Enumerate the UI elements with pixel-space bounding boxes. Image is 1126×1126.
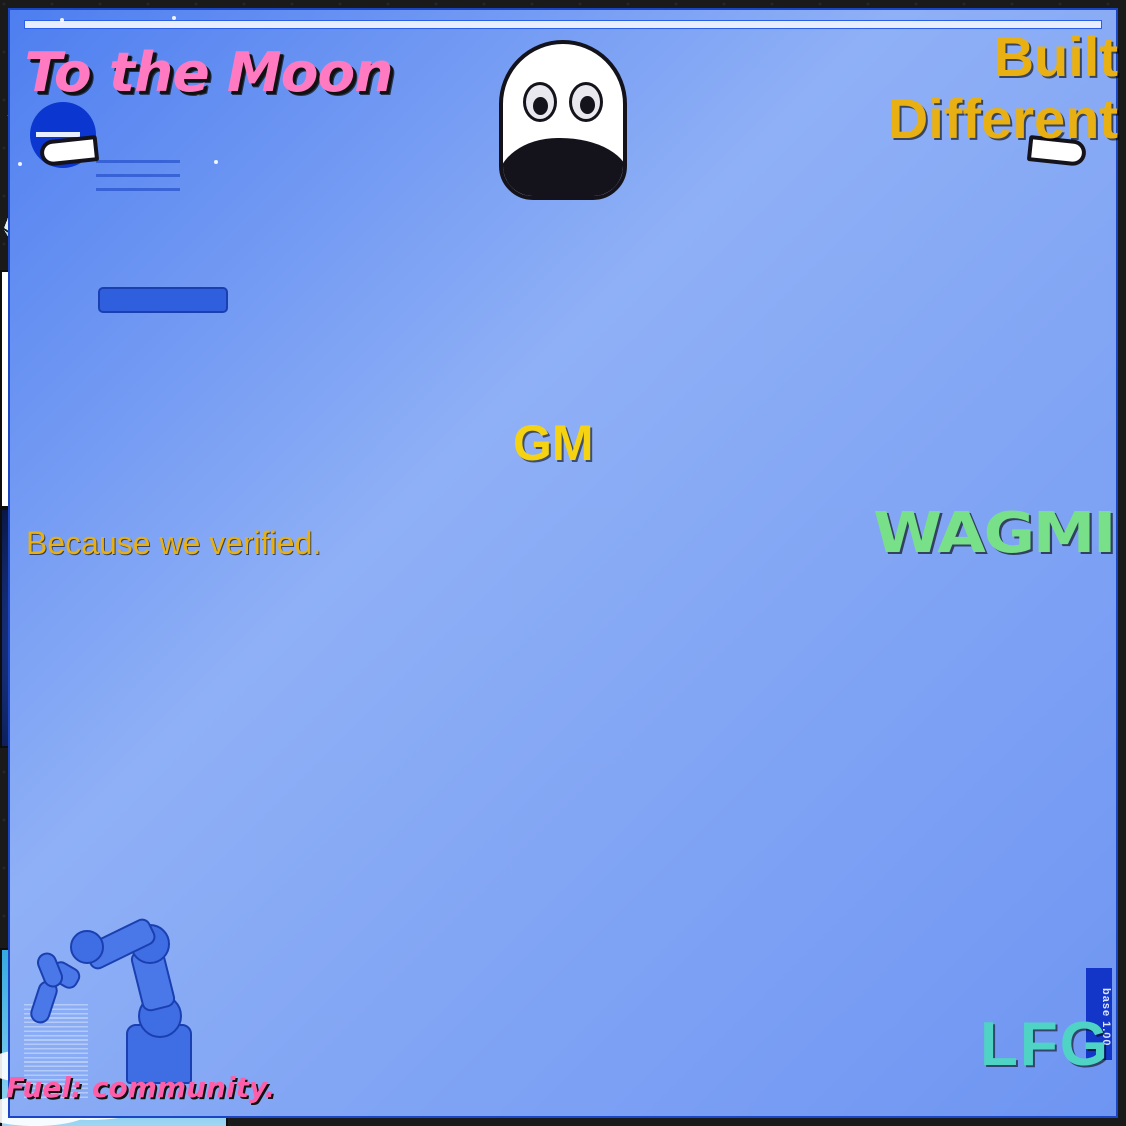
tag-gm: GM — [513, 418, 594, 468]
ghost-body — [499, 40, 627, 200]
tag-wagmi: WAGMI — [873, 506, 1114, 562]
footer-fuel-community: Fuel: community. — [6, 1074, 275, 1102]
tag-lfg: LFG — [980, 1014, 1110, 1076]
ghost-eye-right — [569, 82, 603, 122]
robot-joint-elbow — [70, 930, 104, 964]
collage-canvas: anime digital ward 12 standard circuit — [0, 0, 1126, 1126]
caption-because-we-verified: Because we verified. — [26, 527, 321, 559]
headline-line-1: Built — [888, 26, 1118, 88]
ghost-eye-left — [523, 82, 557, 122]
headline-to-the-moon: To the Moon — [24, 46, 392, 100]
blueprint-annotation-lines — [96, 160, 180, 202]
headline-built-different: Built Different — [888, 26, 1118, 149]
robot-arm-base — [98, 287, 228, 313]
headline-line-2: Different — [888, 88, 1118, 150]
ghost-mouth — [499, 138, 627, 200]
